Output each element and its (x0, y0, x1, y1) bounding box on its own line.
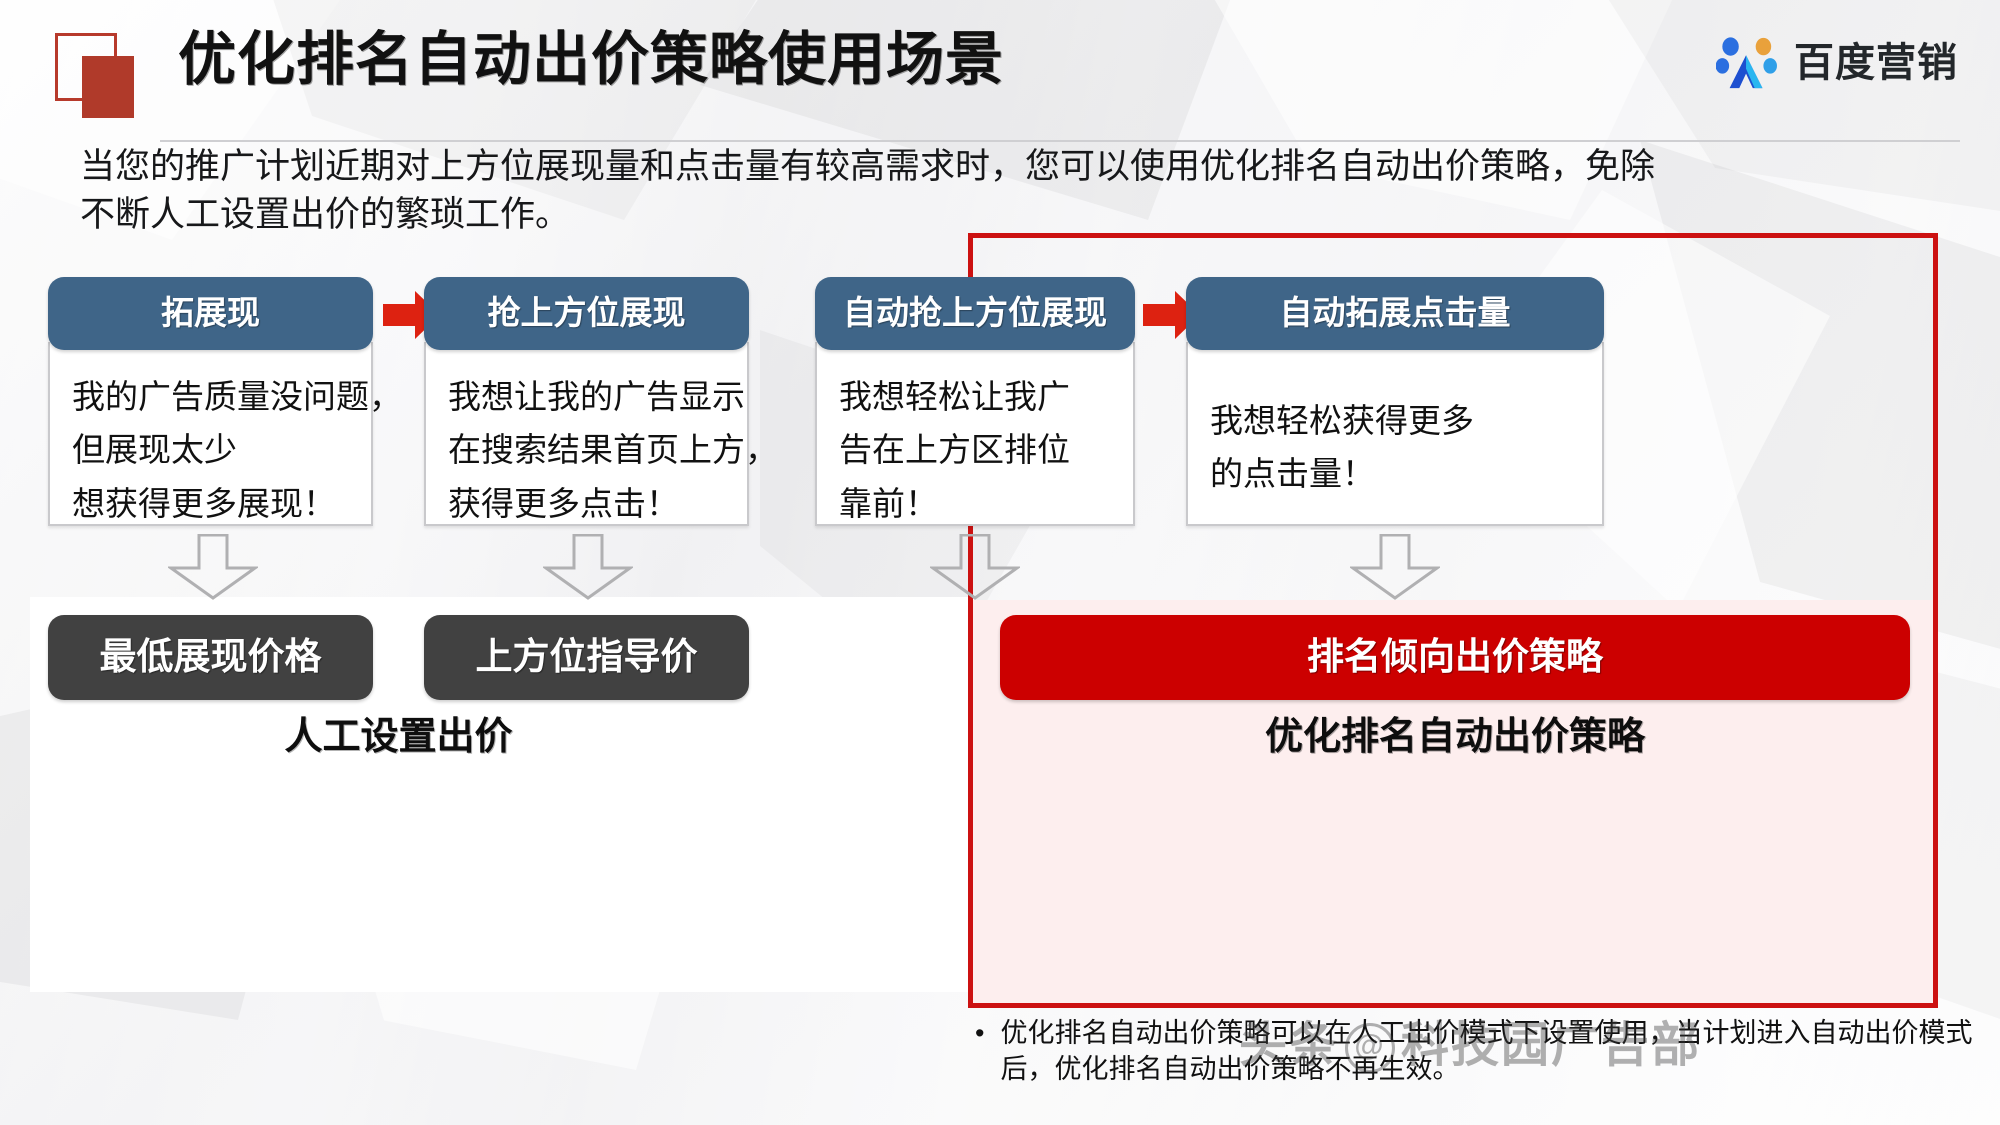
scenario-card-3-body: 我想轻松让我广 告在上方区排位 靠前！ (815, 342, 1135, 526)
flow-arrow-down-2 (543, 534, 633, 600)
card-1-line-3: 想获得更多展现！ (72, 477, 349, 530)
scenario-card-2-header: 抢上方位展现 (424, 277, 749, 350)
scenario-card-4-body: 我想轻松获得更多 的点击量！ (1186, 342, 1604, 526)
flow-arrow-down-1 (168, 534, 258, 600)
card-3-line-3: 靠前！ (839, 477, 1111, 530)
footnote-bullet-icon: • (975, 1015, 984, 1088)
flow-arrow-down-3 (930, 534, 1020, 600)
card-1-line-1: 我的广告质量没问题， (72, 370, 349, 423)
card-2-line-2: 在搜索结果首页上方， (448, 423, 725, 476)
scenario-card-1: 拓展现 我的广告质量没问题， 但展现太少 想获得更多展现！ (48, 277, 373, 526)
flow-arrow-down-4 (1350, 534, 1440, 600)
scenario-diagram: 拓展现 我的广告质量没问题， 但展现太少 想获得更多展现！ 抢上方位展现 我想让… (0, 0, 2000, 1125)
slide-canvas: 优化排名自动出价策略使用场景 百度营销 当您的推广计划近期对上方位展现量和点击量… (0, 0, 2000, 1125)
scenario-card-1-header: 拓展现 (48, 277, 373, 350)
result-pill-top-position-guide-price: 上方位指导价 (424, 615, 749, 700)
card-2-line-1: 我想让我的广告显示 (448, 370, 725, 423)
scenario-card-4-header: 自动拓展点击量 (1186, 277, 1604, 350)
scenario-card-1-body: 我的广告质量没问题， 但展现太少 想获得更多展现！ (48, 342, 373, 526)
auto-group-caption: 优化排名自动出价策略 (1000, 718, 1910, 756)
card-4-line-2: 的点击量！ (1210, 447, 1580, 500)
card-2-line-3: 获得更多点击！ (448, 477, 725, 530)
result-pill-lowest-display-price: 最低展现价格 (48, 615, 373, 700)
scenario-card-3: 自动抢上方位展现 我想轻松让我广 告在上方区排位 靠前！ (815, 277, 1135, 526)
scenario-card-2: 抢上方位展现 我想让我的广告显示 在搜索结果首页上方， 获得更多点击！ (424, 277, 749, 526)
footnote-text: 优化排名自动出价策略可以在人工出价模式下设置使用，当计划进入自动出价模式后，优化… (1000, 1015, 1985, 1088)
card-3-line-2: 告在上方区排位 (839, 423, 1111, 476)
card-3-line-1: 我想轻松让我广 (839, 370, 1111, 423)
card-1-line-2: 但展现太少 (72, 423, 349, 476)
manual-group-caption: 人工设置出价 (48, 718, 749, 756)
scenario-card-3-header: 自动抢上方位展现 (815, 277, 1135, 350)
scenario-card-4: 自动拓展点击量 我想轻松获得更多 的点击量！ (1186, 277, 1604, 526)
result-pill-rank-oriented-bidding: 排名倾向出价策略 (1000, 615, 1910, 700)
card-4-line-1: 我想轻松获得更多 (1210, 394, 1580, 447)
scenario-card-2-body: 我想让我的广告显示 在搜索结果首页上方， 获得更多点击！ (424, 342, 749, 526)
footnote: • 优化排名自动出价策略可以在人工出价模式下设置使用，当计划进入自动出价模式后，… (975, 1015, 1985, 1088)
